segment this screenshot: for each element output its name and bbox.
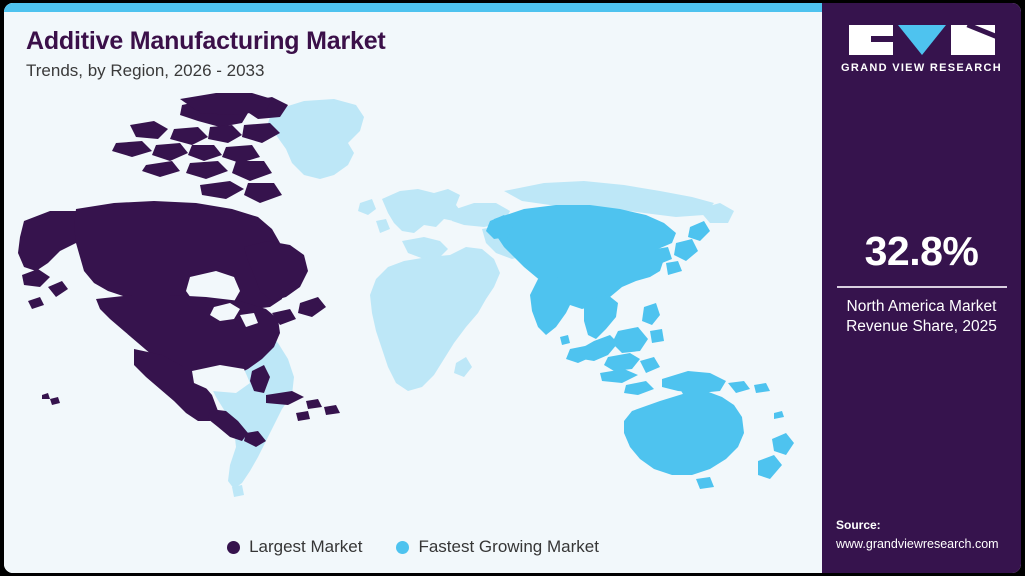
legend-dot-fastest	[396, 541, 409, 554]
legend-label-fastest: Fastest Growing Market	[418, 537, 598, 557]
brand-logo: GRAND VIEW RESEARCH	[822, 25, 1021, 74]
legend-dot-largest	[227, 541, 240, 554]
accent-bar	[4, 3, 822, 12]
source-url[interactable]: www.grandviewresearch.com	[836, 535, 1021, 553]
title-block: Additive Manufacturing Market Trends, by…	[26, 27, 386, 81]
stat-divider	[837, 286, 1007, 288]
logo-marks	[849, 25, 995, 55]
logo-letter-v-icon	[898, 25, 946, 55]
page-subtitle: Trends, by Region, 2026 - 2033	[26, 61, 386, 81]
legend-item-largest-market: Largest Market	[227, 537, 362, 557]
logo-letter-r-icon	[951, 25, 995, 55]
legend-item-fastest-growing: Fastest Growing Market	[396, 537, 598, 557]
stat-value: 32.8%	[830, 231, 1013, 272]
stat-caption-line1: North America Market	[830, 297, 1013, 318]
legend-label-largest: Largest Market	[249, 537, 362, 557]
source-label: Source:	[836, 517, 1021, 534]
world-map	[4, 91, 822, 511]
infographic-card: Additive Manufacturing Market Trends, by…	[4, 3, 1021, 573]
map-panel: Additive Manufacturing Market Trends, by…	[4, 3, 822, 573]
logo-wordmark: GRAND VIEW RESEARCH	[841, 62, 1002, 74]
brand-panel: GRAND VIEW RESEARCH 32.8% North America …	[822, 3, 1021, 573]
stat-caption-line2: Revenue Share, 2025	[830, 317, 1013, 338]
logo-letter-g-icon	[849, 25, 893, 55]
source-block: Source: www.grandviewresearch.com	[836, 517, 1021, 553]
stat-block: 32.8% North America Market Revenue Share…	[822, 231, 1021, 338]
map-legend: Largest Market Fastest Growing Market	[4, 537, 822, 557]
page-title: Additive Manufacturing Market	[26, 27, 386, 55]
